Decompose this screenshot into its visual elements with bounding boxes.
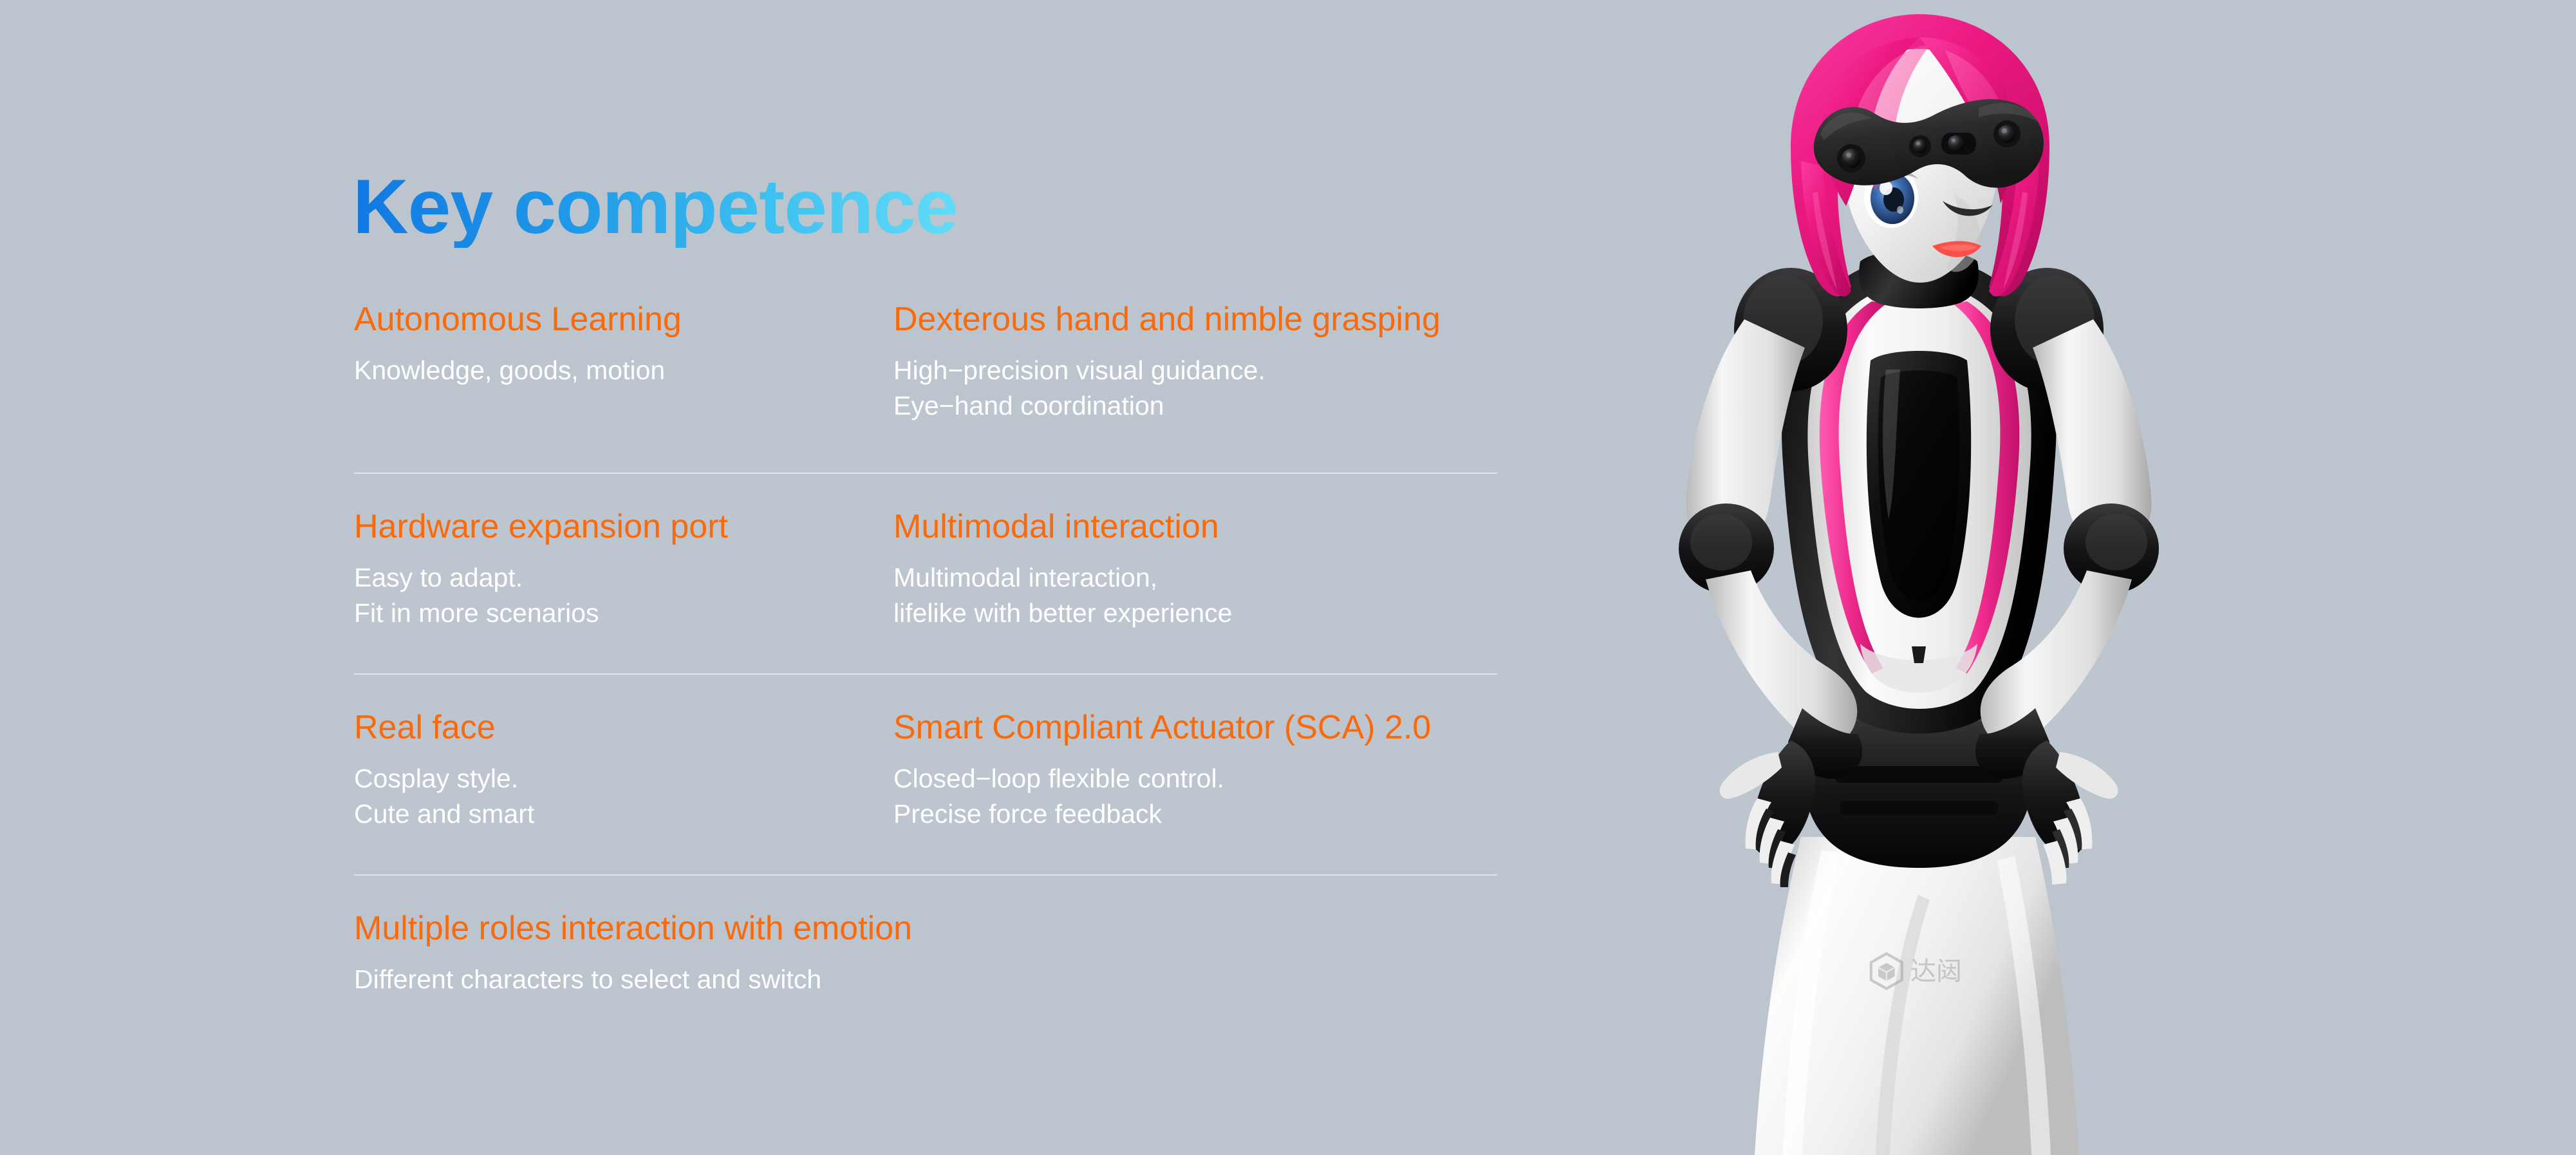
feature-body: Multimodal interaction, lifelike with be… — [893, 560, 1425, 631]
brand-mark-text: 达闼 — [1910, 957, 1962, 986]
feature-heading: Multiple roles interaction with emotion — [354, 912, 1492, 945]
feature-body: Cosplay style. Cute and smart — [354, 761, 886, 832]
feature-item-hardware-expansion-port[interactable]: Hardware expansion port Easy to adapt. F… — [354, 510, 893, 631]
feature-heading: Real face — [354, 711, 886, 744]
page-title: Key competence — [353, 166, 958, 248]
spacer — [354, 675, 1500, 711]
feature-item-smart-compliant-actuator[interactable]: Smart Compliant Actuator (SCA) 2.0 Close… — [893, 711, 1433, 832]
feature-heading: Smart Compliant Actuator (SCA) 2.0 — [893, 711, 1425, 744]
feature-body: Different characters to select and switc… — [354, 962, 1492, 997]
spacer — [354, 832, 1500, 874]
headband-camera-lens — [1941, 133, 1976, 155]
feature-heading: Multimodal interaction — [893, 510, 1425, 543]
headband-camera-lens — [1837, 144, 1865, 173]
feature-body: Knowledge, goods, motion — [354, 353, 886, 388]
robot-lower-body — [1755, 837, 2079, 1155]
feature-grid: Autonomous Learning Knowledge, goods, mo… — [354, 303, 1500, 997]
headband-camera-lens — [1993, 120, 2021, 147]
feature-item-multiple-roles-interaction[interactable]: Multiple roles interaction with emotion … — [354, 912, 1500, 997]
spacer — [354, 474, 1500, 510]
robot-illustration: 达闼 — [1500, 0, 2388, 1155]
feature-item-autonomous-learning[interactable]: Autonomous Learning Knowledge, goods, mo… — [354, 303, 893, 424]
feature-body: Easy to adapt. Fit in more scenarios — [354, 560, 886, 631]
feature-item-real-face[interactable]: Real face Cosplay style. Cute and smart — [354, 711, 893, 832]
feature-row: Autonomous Learning Knowledge, goods, mo… — [354, 303, 1500, 424]
feature-row: Multiple roles interaction with emotion … — [354, 912, 1500, 997]
feature-item-dexterous-hand[interactable]: Dexterous hand and nimble grasping High−… — [893, 303, 1433, 424]
feature-row: Real face Cosplay style. Cute and smart … — [354, 711, 1500, 832]
feature-row: Hardware expansion port Easy to adapt. F… — [354, 510, 1500, 631]
slide-canvas: Key competence Autonomous Learning Knowl… — [0, 0, 2576, 1155]
feature-body: High−precision visual guidance. Eye−hand… — [893, 353, 1425, 424]
feature-heading: Hardware expansion port — [354, 510, 886, 543]
feature-body: Closed−loop flexible control. Precise fo… — [893, 761, 1425, 832]
feature-item-multimodal-interaction[interactable]: Multimodal interaction Multimodal intera… — [893, 510, 1433, 631]
feature-heading: Autonomous Learning — [354, 303, 886, 336]
spacer — [354, 631, 1500, 673]
spacer — [354, 876, 1500, 912]
feature-heading: Dexterous hand and nimble grasping — [893, 303, 1425, 336]
spacer — [354, 424, 1500, 473]
headband-camera-lens — [1909, 135, 1931, 157]
